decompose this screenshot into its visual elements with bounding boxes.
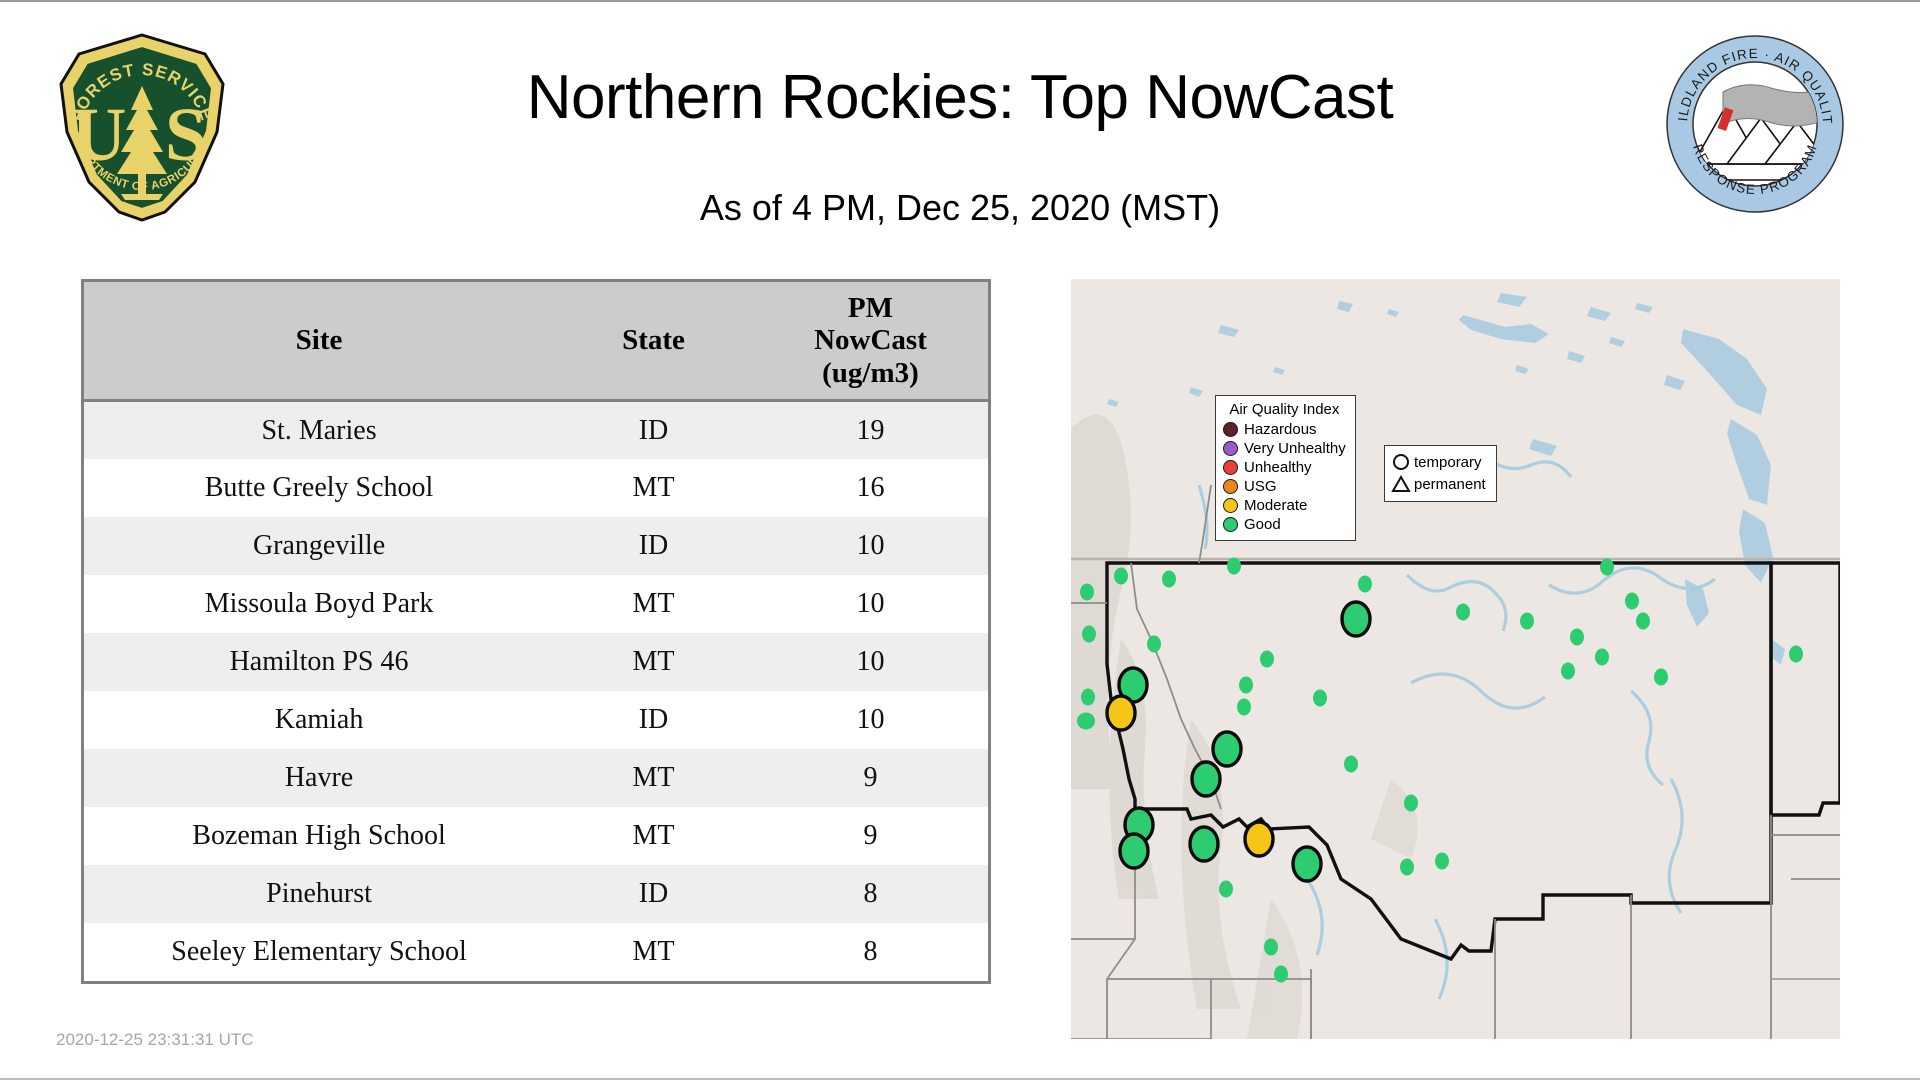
- table-row: St. Maries ID 19: [84, 401, 988, 459]
- cell-site: Kamiah: [84, 691, 554, 749]
- cell-pm: 10: [753, 633, 988, 691]
- table-row: Pinehurst ID 8: [84, 865, 988, 923]
- pm-header-line-3: (ug/m3): [822, 357, 919, 389]
- nowcast-report-page: FOREST SERVICE DEPARTMENT OF AGRICULTURE…: [0, 0, 1920, 1080]
- cell-state: MT: [554, 459, 753, 517]
- column-header-site: Site: [84, 282, 554, 401]
- site-marker-hamilton-ps-46: [1120, 834, 1148, 868]
- aqi-swatch-unhealthy: [1223, 460, 1238, 475]
- generated-timestamp: 2020-12-25 23:31:31 UTC: [56, 1030, 254, 1050]
- aqi-label-unhealthy: Unhealthy: [1244, 459, 1312, 476]
- cell-site: Havre: [84, 749, 554, 807]
- cell-state: MT: [554, 633, 753, 691]
- cell-site: Pinehurst: [84, 865, 554, 923]
- site-marker-butte-greely-school: [1245, 822, 1273, 856]
- aqi-swatch-very-unhealthy: [1223, 441, 1238, 456]
- cell-site: Missoula Boyd Park: [84, 575, 554, 633]
- aqi-swatch-good: [1223, 517, 1238, 532]
- site-marker-bozeman-high-school: [1293, 847, 1321, 881]
- site-marker-seeley: [1213, 732, 1241, 766]
- cell-state: MT: [554, 575, 753, 633]
- triangle-outline-icon: [1391, 474, 1411, 494]
- aqi-label-usg: USG: [1244, 478, 1277, 495]
- cell-state: ID: [554, 691, 753, 749]
- aqi-swatch-usg: [1223, 479, 1238, 494]
- table-row: Grangeville ID 10: [84, 517, 988, 575]
- cell-state: MT: [554, 807, 753, 865]
- air-quality-map[interactable]: [1071, 279, 1840, 1039]
- cell-pm: 10: [753, 575, 988, 633]
- aqi-legend-item-hazardous: Hazardous: [1223, 420, 1346, 439]
- monitor-type-label-temporary: temporary: [1414, 454, 1482, 471]
- aqi-legend-item-unhealthy: Unhealthy: [1223, 458, 1346, 477]
- aqi-legend-item-very-unhealthy: Very Unhealthy: [1223, 439, 1346, 458]
- cell-pm: 16: [753, 459, 988, 517]
- aqi-legend-item-usg: USG: [1223, 477, 1346, 496]
- cell-site: St. Maries: [84, 401, 554, 459]
- aqi-label-good: Good: [1244, 516, 1281, 533]
- page-subtitle: As of 4 PM, Dec 25, 2020 (MST): [270, 187, 1650, 229]
- table-row: Kamiah ID 10: [84, 691, 988, 749]
- fs-logo-letter-u: U: [72, 93, 127, 177]
- fs-logo-letter-s: S: [165, 93, 207, 177]
- aqi-legend-item-good: Good: [1223, 515, 1346, 534]
- aqi-legend-title: Air Quality Index: [1223, 401, 1346, 418]
- air-quality-index-legend: Air Quality Index Hazardous Very Unhealt…: [1215, 395, 1356, 541]
- cell-site: Hamilton PS 46: [84, 633, 554, 691]
- site-marker-st-maries: [1107, 696, 1135, 730]
- cell-site: Bozeman High School: [84, 807, 554, 865]
- aqi-label-hazardous: Hazardous: [1244, 421, 1317, 438]
- aqi-label-moderate: Moderate: [1244, 497, 1307, 514]
- cell-state: ID: [554, 401, 753, 459]
- monitor-type-legend: temporary permanent: [1384, 445, 1497, 502]
- cell-pm: 10: [753, 691, 988, 749]
- aqi-swatch-hazardous: [1223, 422, 1238, 437]
- nowcast-table: Site State PM NowCast (ug/m3) St. Maries…: [81, 279, 991, 984]
- site-marker-grangeville: [1190, 827, 1218, 861]
- cell-site: Seeley Elementary School: [84, 923, 554, 981]
- aqi-label-very-unhealthy: Very Unhealthy: [1244, 440, 1346, 457]
- page-title: Northern Rockies: Top NowCast: [270, 62, 1650, 133]
- table-row: Missoula Boyd Park MT 10: [84, 575, 988, 633]
- cell-state: MT: [554, 749, 753, 807]
- cell-state: ID: [554, 865, 753, 923]
- table-header-row: Site State PM NowCast (ug/m3): [84, 282, 988, 401]
- pm-header-line-2: NowCast: [814, 324, 927, 356]
- aqi-swatch-moderate: [1223, 498, 1238, 513]
- aqi-legend-item-moderate: Moderate: [1223, 496, 1346, 515]
- cell-site: Grangeville: [84, 517, 554, 575]
- column-header-state: State: [554, 282, 753, 401]
- table-row: Seeley Elementary School MT 8: [84, 923, 988, 981]
- cell-pm: 9: [753, 807, 988, 865]
- cell-state: MT: [554, 923, 753, 981]
- circle-outline-icon: [1391, 452, 1411, 472]
- cell-pm: 8: [753, 923, 988, 981]
- cell-pm: 19: [753, 401, 988, 459]
- cell-pm: 10: [753, 517, 988, 575]
- pm-header-line-1: PM: [848, 292, 893, 324]
- monitor-type-item-permanent: permanent: [1391, 473, 1486, 495]
- wildland-fire-air-quality-logo: WILDLAND FIRE · AIR QUALITY RESPONSE PRO…: [1665, 34, 1845, 214]
- site-marker-havre: [1342, 602, 1370, 636]
- monitor-type-label-permanent: permanent: [1414, 476, 1486, 493]
- cell-pm: 8: [753, 865, 988, 923]
- monitor-type-item-temporary: temporary: [1391, 451, 1486, 473]
- site-marker-missoula-boyd-park: [1192, 762, 1220, 796]
- table-row: Hamilton PS 46 MT 10: [84, 633, 988, 691]
- cell-pm: 9: [753, 749, 988, 807]
- cell-state: ID: [554, 517, 753, 575]
- cell-site: Butte Greely School: [84, 459, 554, 517]
- table-row: Bozeman High School MT 9: [84, 807, 988, 865]
- table-row: Butte Greely School MT 16: [84, 459, 988, 517]
- forest-service-logo: FOREST SERVICE DEPARTMENT OF AGRICULTURE…: [55, 32, 230, 222]
- column-header-pm-nowcast: PM NowCast (ug/m3): [753, 282, 988, 401]
- table-row: Havre MT 9: [84, 749, 988, 807]
